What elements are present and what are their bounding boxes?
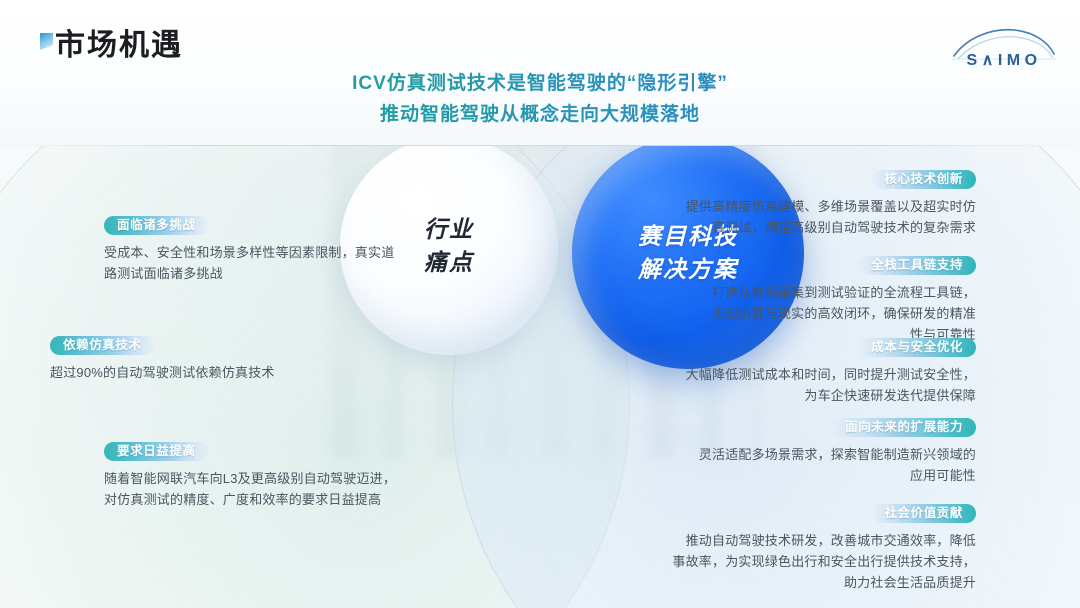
page-title-group: 市场机遇 [40, 28, 183, 64]
body-line: 路测试面临诸多挑战 [104, 263, 404, 284]
body-line: 随着智能网联汽车向L3及更高级别自动驾驶迈进， [104, 468, 404, 489]
slide-body: 行业 痛点 赛目科技 解决方案 面临诸多挑战 受成本、安全性和场景多样性等因素限… [0, 146, 1080, 608]
right-block-cost-safety-label: 成本与安全优化 [858, 338, 976, 357]
body-line: 提供高精度仿真建模、多维场景覆盖以及超实时仿 [640, 196, 976, 217]
industry-pain-circle-text: 行业 痛点 [424, 213, 474, 279]
right-block-core-innovation-label: 核心技术创新 [871, 170, 976, 189]
title-flag-icon [40, 33, 53, 50]
body-line: 灵活适配多场景需求，探索智能制造新兴领域的 [640, 444, 976, 465]
left-block-challenges: 面临诸多挑战 受成本、安全性和场景多样性等因素限制，真实道 路测试面临诸多挑战 [104, 216, 404, 284]
industry-pain-line-2: 痛点 [424, 249, 474, 275]
saimo-logo: S∧IMO [948, 26, 1060, 72]
right-block-toolchain-label: 全栈工具链支持 [858, 256, 976, 275]
left-block-challenges-label: 面临诸多挑战 [104, 216, 209, 235]
slide-root: 市场机遇 ICV仿真测试技术是智能驾驶的“隐形引擎” 推动智能驾驶从概念走向大规… [0, 0, 1080, 608]
headline: ICV仿真测试技术是智能驾驶的“隐形引擎” 推动智能驾驶从概念走向大规模落地 [0, 68, 1080, 130]
body-line: 实现仿真与现实的高效闭环，确保研发的精准 [626, 303, 976, 324]
industry-pain-line-1: 行业 [424, 216, 474, 242]
body-line: 打造从数据采集到测试验证的全流程工具链， [626, 282, 976, 303]
headline-line-2: 推动智能驾驶从概念走向大规模落地 [0, 99, 1080, 130]
body-line: 事故率，为实现绿色出行和安全出行提供技术支持， [640, 551, 976, 572]
right-block-social-value-body: 推动自动驾驶技术研发，改善城市交通效率，降低 事故率，为实现绿色出行和安全出行提… [640, 530, 976, 593]
body-line: 助力社会生活品质提升 [640, 572, 976, 593]
right-block-core-innovation: 核心技术创新 提供高精度仿真建模、多维场景覆盖以及超实时仿 真测试，满足高级别自… [640, 170, 976, 238]
headline-line-1: ICV仿真测试技术是智能驾驶的“隐形引擎” [0, 68, 1080, 99]
left-block-requirements: 要求日益提高 随着智能网联汽车向L3及更高级别自动驾驶迈进， 对仿真测试的精度、… [104, 442, 404, 510]
page-title: 市场机遇 [55, 28, 183, 64]
left-block-challenges-body: 受成本、安全性和场景多样性等因素限制，真实道 路测试面临诸多挑战 [104, 242, 404, 284]
right-block-social-value: 社会价值贡献 推动自动驾驶技术研发，改善城市交通效率，降低 事故率，为实现绿色出… [640, 504, 976, 593]
body-line: 应用可能性 [640, 465, 976, 486]
left-block-reliance-body: 超过90%的自动驾驶测试依赖仿真技术 [50, 362, 350, 383]
right-block-toolchain-body: 打造从数据采集到测试验证的全流程工具链， 实现仿真与现实的高效闭环，确保研发的精… [626, 282, 976, 345]
body-line: 对仿真测试的精度、广度和效率的要求日益提高 [104, 489, 404, 510]
right-block-toolchain: 全栈工具链支持 打造从数据采集到测试验证的全流程工具链， 实现仿真与现实的高效闭… [626, 256, 976, 345]
body-line: 受成本、安全性和场景多样性等因素限制，真实道 [104, 242, 404, 263]
left-block-requirements-label: 要求日益提高 [104, 442, 209, 461]
body-line: 为车企快速研发迭代提供保障 [640, 385, 976, 406]
right-block-cost-safety: 成本与安全优化 大幅降低测试成本和时间，同时提升测试安全性， 为车企快速研发迭代… [640, 338, 976, 406]
left-block-reliance: 依赖仿真技术 超过90%的自动驾驶测试依赖仿真技术 [50, 336, 350, 383]
body-line: 推动自动驾驶技术研发，改善城市交通效率，降低 [640, 530, 976, 551]
right-block-scalability-body: 灵活适配多场景需求，探索智能制造新兴领域的 应用可能性 [640, 444, 976, 486]
body-line: 真测试，满足高级别自动驾驶技术的复杂需求 [640, 217, 976, 238]
right-block-cost-safety-body: 大幅降低测试成本和时间，同时提升测试安全性， 为车企快速研发迭代提供保障 [640, 364, 976, 406]
saimo-logo-text: S∧IMO [966, 52, 1041, 69]
right-block-social-value-label: 社会价值贡献 [871, 504, 976, 523]
right-block-scalability-label: 面向未来的扩展能力 [832, 418, 976, 437]
body-line: 超过90%的自动驾驶测试依赖仿真技术 [50, 362, 350, 383]
right-block-scalability: 面向未来的扩展能力 灵活适配多场景需求，探索智能制造新兴领域的 应用可能性 [640, 418, 976, 486]
right-block-core-innovation-body: 提供高精度仿真建模、多维场景覆盖以及超实时仿 真测试，满足高级别自动驾驶技术的复… [640, 196, 976, 238]
left-block-reliance-label: 依赖仿真技术 [50, 336, 155, 355]
body-line: 大幅降低测试成本和时间，同时提升测试安全性， [640, 364, 976, 385]
left-block-requirements-body: 随着智能网联汽车向L3及更高级别自动驾驶迈进， 对仿真测试的精度、广度和效率的要… [104, 468, 404, 510]
slide-header: 市场机遇 ICV仿真测试技术是智能驾驶的“隐形引擎” 推动智能驾驶从概念走向大规… [0, 0, 1080, 146]
